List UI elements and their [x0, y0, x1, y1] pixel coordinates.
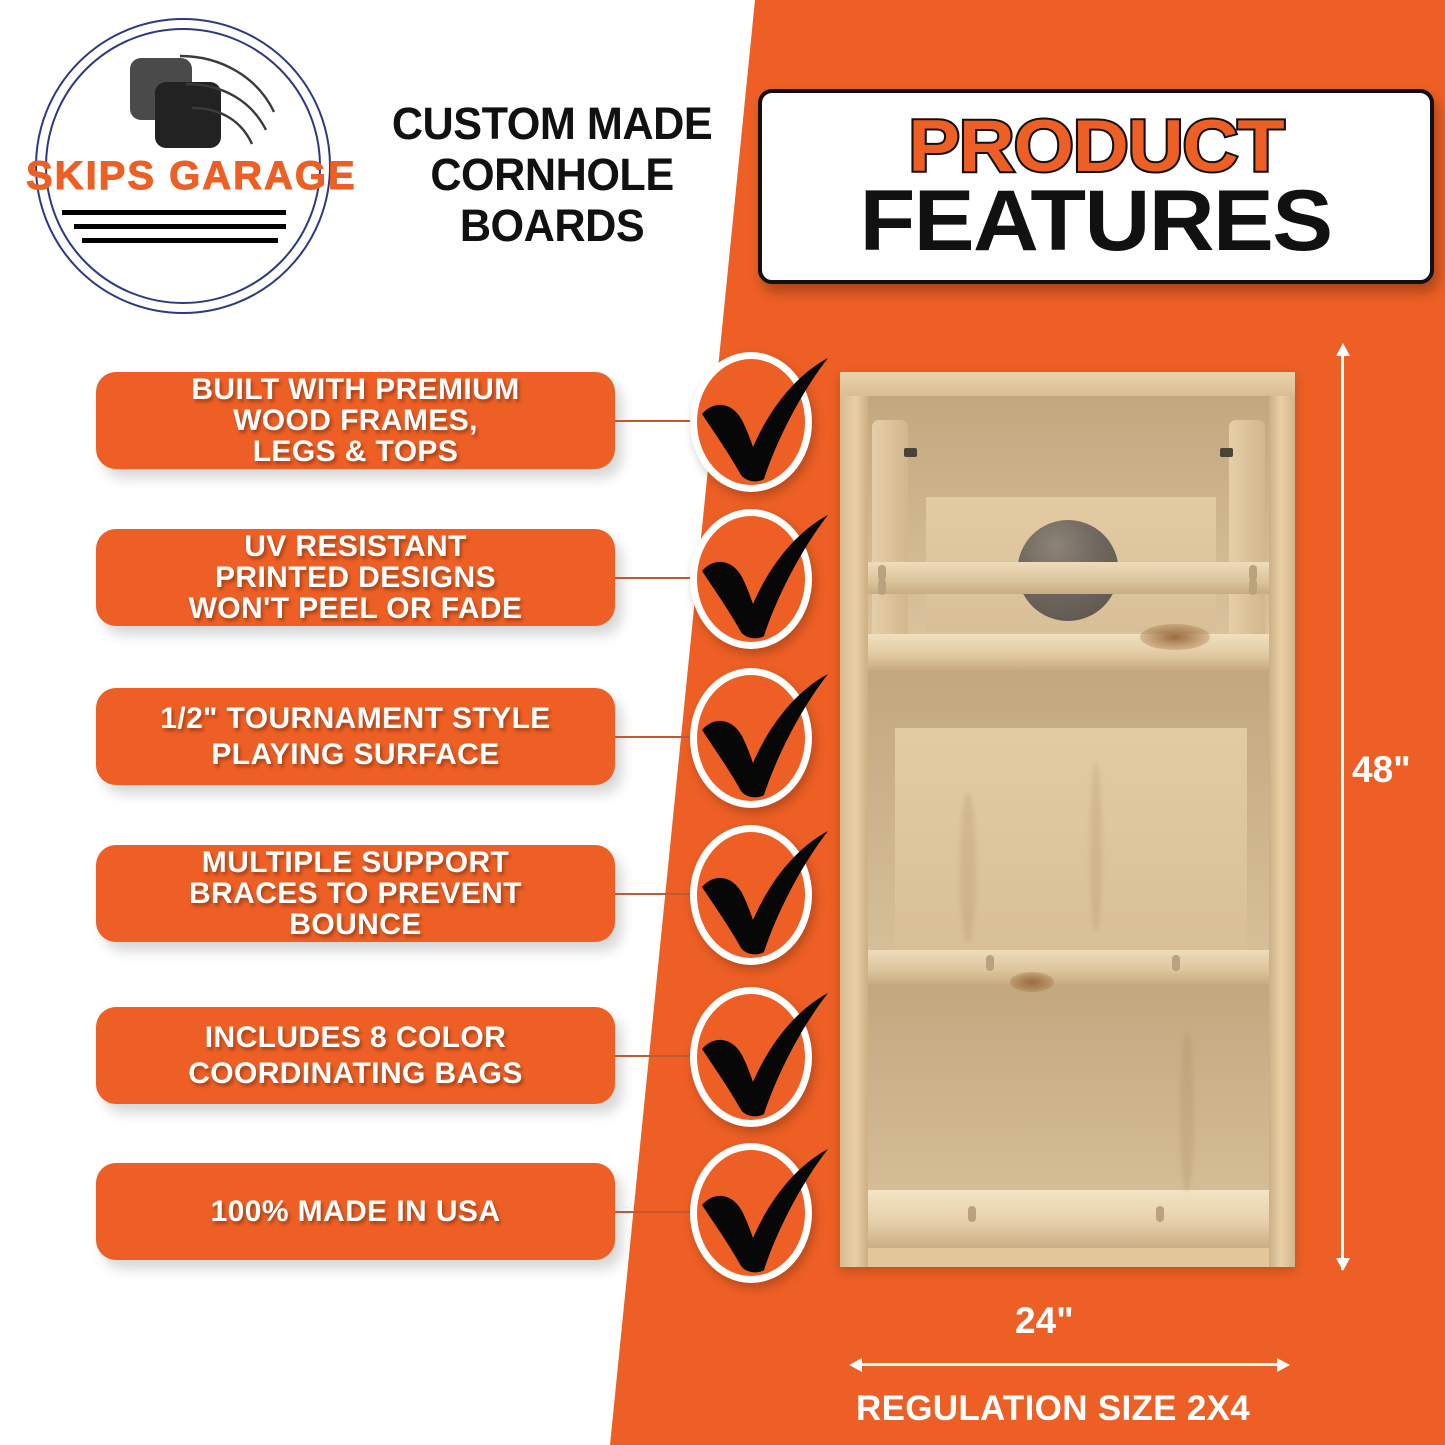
rail-screw-2: [1156, 1206, 1164, 1222]
logo-rule-1: [62, 210, 286, 215]
feature-3-line-2: PLAYING SURFACE: [160, 737, 550, 773]
leg-bolt-left: [904, 448, 917, 457]
feature-5-line-1: INCLUDES 8 COLOR: [188, 1020, 523, 1056]
board-mid-panel: [895, 728, 1247, 950]
infographic-page: SKIPS GARAGE CUSTOM MADE CORNHOLE BOARDS…: [0, 0, 1445, 1445]
feature-pill-4[interactable]: MULTIPLE SUPPORT BRACES TO PREVENT BOUNC…: [96, 845, 615, 942]
feature-connector-2: [615, 577, 695, 579]
feature-connector-3: [615, 736, 695, 738]
page-title-line-3: BOARDS: [360, 200, 744, 251]
page-title-line-2: CORNHOLE: [360, 149, 744, 200]
feature-badge-5: [690, 987, 812, 1127]
cornhole-board-photo: [840, 372, 1295, 1267]
feature-badge-3: [690, 668, 812, 808]
regulation-size-caption: REGULATION SIZE 2X4: [856, 1389, 1250, 1429]
feature-badge-1: [690, 352, 812, 492]
feature-3-line-1: 1/2" TOURNAMENT STYLE: [160, 701, 550, 737]
brand-logo: SKIPS GARAGE: [26, 14, 338, 314]
feature-connector-4: [615, 893, 695, 895]
support-brace-mid: [868, 950, 1269, 984]
height-dimension-line: [1341, 350, 1344, 1270]
feature-1-line-2: WOOD FRAMES,: [191, 405, 519, 436]
wood-grain-2: [1090, 762, 1102, 932]
width-arrow-right: [1277, 1358, 1290, 1372]
feature-pill-3[interactable]: 1/2" TOURNAMENT STYLE PLAYING SURFACE: [96, 688, 615, 785]
folding-leg-left: [872, 420, 908, 642]
feature-6-line-1: 100% MADE IN USA: [211, 1194, 501, 1230]
feature-pill-2[interactable]: UV RESISTANT PRINTED DESIGNS WON'T PEEL …: [96, 529, 615, 626]
feature-4-line-2: BRACES TO PREVENT: [189, 878, 522, 909]
folding-leg-right: [1229, 420, 1265, 642]
board-frame-left: [840, 372, 868, 1267]
board-frame-right: [1269, 372, 1295, 1267]
feature-1-line-1: BUILT WITH PREMIUM: [191, 374, 519, 405]
leg-bolt-right: [1220, 448, 1233, 457]
width-label: 24": [1015, 1300, 1074, 1342]
motion-arcs-icon: [176, 50, 296, 150]
feature-4-line-3: BOUNCE: [189, 909, 522, 940]
feature-2-line-3: WON'T PEEL OR FADE: [189, 593, 523, 624]
feature-1-line-3: LEGS & TOPS: [191, 436, 519, 467]
support-brace-top: [868, 562, 1269, 594]
feature-pill-6[interactable]: 100% MADE IN USA: [96, 1163, 615, 1260]
brace-screw-6: [1172, 955, 1180, 971]
width-dimension-line: [862, 1363, 1277, 1366]
page-title: CUSTOM MADE CORNHOLE BOARDS: [360, 98, 744, 251]
feature-badge-6: [690, 1143, 812, 1283]
feature-2-line-2: PRINTED DESIGNS: [189, 562, 523, 593]
product-features-banner: PRODUCT FEATURES: [758, 89, 1434, 284]
banner-line-product: PRODUCT: [908, 114, 1283, 180]
logo-wordmark: SKIPS GARAGE: [26, 154, 338, 199]
banner-line-features: FEATURES: [860, 182, 1332, 260]
height-arrow-bottom: [1336, 1258, 1350, 1271]
page-title-line-1: CUSTOM MADE: [360, 98, 744, 149]
feature-connector-5: [615, 1055, 695, 1057]
wood-knot-1: [1140, 624, 1210, 650]
wood-grain-3: [1180, 1032, 1194, 1192]
feature-connector-6: [615, 1211, 695, 1213]
feature-2-line-1: UV RESISTANT: [189, 531, 523, 562]
logo-rule-2: [74, 224, 286, 229]
feature-5-line-2: COORDINATING BAGS: [188, 1056, 523, 1092]
rail-screw-1: [968, 1206, 976, 1222]
wood-grain-1: [960, 792, 976, 942]
brace-screw-2: [878, 579, 886, 595]
brace-screw-5: [986, 955, 994, 971]
wood-knot-2: [1010, 972, 1054, 992]
brace-screw-4: [1249, 579, 1257, 595]
height-label: 48": [1352, 749, 1411, 791]
board-bottom-rail: [860, 1190, 1278, 1248]
feature-badge-2: [690, 509, 812, 649]
feature-4-line-1: MULTIPLE SUPPORT: [189, 847, 522, 878]
width-arrow-left: [849, 1358, 862, 1372]
feature-connector-1: [615, 420, 695, 422]
feature-badge-4: [690, 825, 812, 965]
board-frame-top: [840, 372, 1295, 396]
feature-pill-1[interactable]: BUILT WITH PREMIUM WOOD FRAMES, LEGS & T…: [96, 372, 615, 469]
logo-rule-3: [82, 238, 278, 243]
feature-pill-5[interactable]: INCLUDES 8 COLOR COORDINATING BAGS: [96, 1007, 615, 1104]
